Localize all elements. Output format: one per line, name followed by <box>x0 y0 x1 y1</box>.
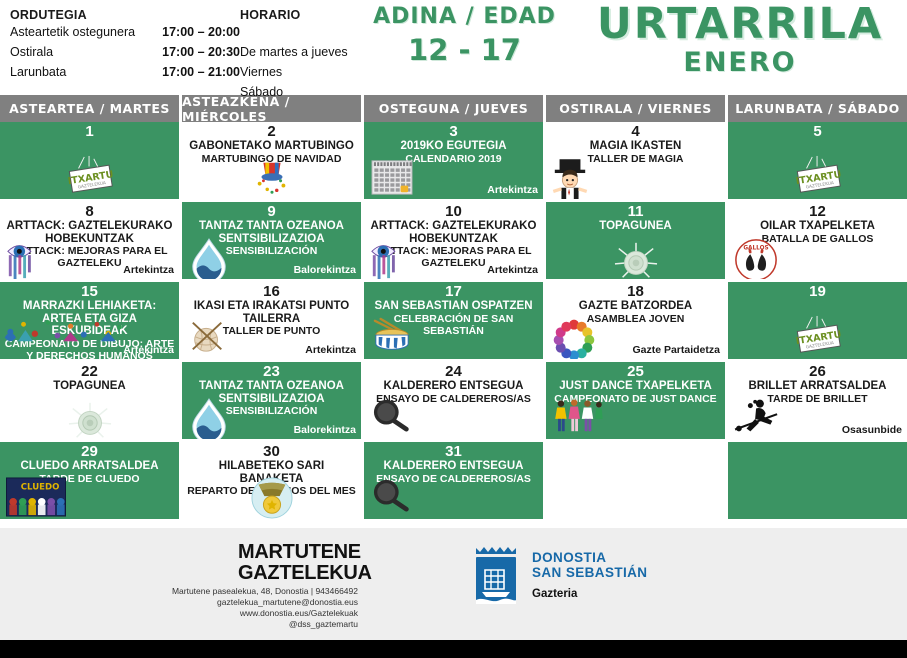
poster-footer: MARTUTENE GAZTELEKUA Martutene pasealeku… <box>0 528 907 640</box>
drum-icon <box>369 317 413 357</box>
event-organizer: Artekintza <box>305 344 356 356</box>
sport-figure-icon <box>733 397 793 437</box>
weekday-header-friday: OSTIRALA / VIERNES <box>546 95 725 122</box>
calendar-day-cell-31[interactable]: 31KALDERERO ENTSEGUAENSAYO DE CALDEREROS… <box>364 442 543 519</box>
day-number: 22 <box>0 362 179 380</box>
schedule-title-eu: ORDUTEGIA <box>10 8 240 22</box>
event-organizer: Osasunbide <box>842 424 902 436</box>
schedule-day-eu-2: Ostirala <box>10 42 53 62</box>
paint-splash-icon <box>0 313 128 353</box>
day-number: 1 <box>0 122 179 140</box>
painted-eye-icon <box>369 237 413 277</box>
schedule-title-es: HORARIO <box>240 8 365 22</box>
day-number: 15 <box>0 282 179 300</box>
calendar-day-cell-11[interactable]: 11TOPAGUNEA <box>546 202 725 279</box>
calendar-day-cell-16[interactable]: 16IKASI ETA IRAKATSI PUNTO TAILERRATALLE… <box>182 282 361 359</box>
weekday-header-tuesday: ASTEARTEA / MARTES <box>0 95 179 122</box>
calendar-day-cell-29[interactable]: 29CLUEDO ARRATSALDEATARDE DE CLUEDOCLUED… <box>0 442 179 519</box>
calendar-day-cell-1[interactable]: 1ITXARTUGAZTELEKUA <box>0 122 179 199</box>
event-title-eu: JUST DANCE TXAPELKETA <box>546 380 725 393</box>
calendar-day-cell-22[interactable]: 22TOPAGUNEA <box>0 362 179 439</box>
virus-sphere-icon <box>609 239 669 279</box>
schedule-row-es-3: Sábado <box>240 82 365 102</box>
event-title-eu: CLUEDO ARRATSALDEA <box>0 460 179 473</box>
itxartu-sign-icon: ITXARTUGAZTELEKUA <box>789 315 849 355</box>
calendar-day-cell-30[interactable]: 30HILABETEKO SARI BANAKETAREPARTO DE PRE… <box>182 442 361 519</box>
day-number: 4 <box>546 122 725 140</box>
magician-icon <box>551 157 595 197</box>
schedule-spanish: HORARIO De martes a jueves Viernes Sábad… <box>240 8 365 102</box>
contact-website[interactable]: www.donostia.eus/Gaztelekuak <box>120 608 358 619</box>
schedule-row-3: Larunbata 17:00 – 21:00 <box>10 62 240 82</box>
day-number: 11 <box>546 202 725 220</box>
painted-eye-icon <box>5 237 49 277</box>
age-range-block: ADINA / EDAD 12 - 17 <box>372 4 557 67</box>
svg-text:CLUEDO: CLUEDO <box>21 482 60 492</box>
day-number: 31 <box>364 442 543 460</box>
calendar-week-row: 29CLUEDO ARRATSALDEATARDE DE CLUEDOCLUED… <box>0 442 907 519</box>
event-title-eu: KALDERERO ENTSEGUA <box>364 380 543 393</box>
month-name-es: ENERO <box>580 48 900 78</box>
knitting-icon <box>187 317 231 357</box>
event-organizer: Artekintza <box>487 184 538 196</box>
event-title-eu: OILAR TXAPELKETA <box>728 220 907 233</box>
poster-header: ORDUTEGIA Asteartetik ostegunera 17:00 –… <box>0 0 907 95</box>
day-number: 30 <box>182 442 361 460</box>
event-organizer: Artekintza <box>123 344 174 356</box>
day-number: 12 <box>728 202 907 220</box>
event-title-eu: BRILLET ARRATSALDEA <box>728 380 907 393</box>
event-organizer: Artekintza <box>487 264 538 276</box>
event-organizer: Balorekintza <box>294 264 356 276</box>
schedule-row-2: Ostirala 17:00 – 20:30 <box>10 42 240 62</box>
calendar-week-row: 22TOPAGUNEA23TANTAZ TANTA OZEANOA SENTSI… <box>0 362 907 439</box>
calendar-week-row: 15MARRAZKI LEHIAKETA: ARTEA ETA GIZA ESK… <box>0 282 907 359</box>
schedule-time-1: 17:00 – 20:00 <box>162 22 240 42</box>
calendar-day-cell-8[interactable]: 8ARTTACK: GAZTELEKURAKO HOBEKUNTZAKARTTA… <box>0 202 179 279</box>
day-number: 5 <box>728 122 907 140</box>
month-title-block: URTARRILA ENERO <box>580 0 900 78</box>
calendar-day-cell-24[interactable]: 24KALDERERO ENTSEGUAENSAYO DE CALDEREROS… <box>364 362 543 439</box>
virus-sphere-icon <box>63 399 123 439</box>
contact-address: Martutene pasealekua, 48, Donostia | 943… <box>120 586 358 597</box>
schedule-time-3: 17:00 – 21:00 <box>162 62 240 82</box>
water-drop-icon: OZEANOA <box>187 397 231 437</box>
calendar-day-cell-5[interactable]: 5ITXARTUGAZTELEKUA <box>728 122 907 199</box>
water-drop-icon: OZEANOA <box>187 237 231 277</box>
age-label: ADINA / EDAD <box>372 4 557 29</box>
day-number: 19 <box>728 282 907 300</box>
schedule-day-eu-3: Larunbata <box>10 62 66 82</box>
calendar-poster: ORDUTEGIA Asteartetik ostegunera 17:00 –… <box>0 0 907 658</box>
schedule-basque: ORDUTEGIA Asteartetik ostegunera 17:00 –… <box>10 8 240 82</box>
calendar-grid: 1ITXARTUGAZTELEKUA2GABONETAKO MARTUBINGO… <box>0 122 907 519</box>
weekday-header-thursday: OSTEGUNA / JUEVES <box>364 95 543 122</box>
calendar-day-cell-2[interactable]: 2GABONETAKO MARTUBINGOMARTUBINGO DE NAVI… <box>182 122 361 199</box>
event-organizer: Artekintza <box>123 264 174 276</box>
event-title-eu: SAN SEBASTIAN OSPATZEN <box>364 300 543 313</box>
donostia-city-logo: DONOSTIA SAN SEBASTIÁN Gazteria <box>470 544 710 604</box>
donostia-shield-icon <box>470 544 522 604</box>
schedule-day-eu-1: Asteartetik ostegunera <box>10 22 135 42</box>
event-title-eu: TOPAGUNEA <box>0 380 179 393</box>
schedule-row-es-0 <box>240 22 365 42</box>
calendar-day-cell-9[interactable]: 9TANTAZ TANTA OZEANOA SENTSIBILIZAZIOASE… <box>182 202 361 279</box>
month-name-eu: URTARRILA <box>580 0 900 48</box>
day-number: 8 <box>0 202 179 220</box>
day-number: 23 <box>182 362 361 380</box>
calendar-day-cell-25[interactable]: 25JUST DANCE TXAPELKETACAMPEONATO DE JUS… <box>546 362 725 439</box>
calendar-day-cell-12[interactable]: 12OILAR TXAPELKETABATALLA DE GALLOSGALLO… <box>728 202 907 279</box>
calendar-empty-cell <box>728 442 907 519</box>
city-name-line1: DONOSTIA <box>532 550 647 565</box>
calendar-day-cell-10[interactable]: 10ARTTACK: GAZTELEKURAKO HOBEKUNTZAKARTT… <box>364 202 543 279</box>
day-number: 26 <box>728 362 907 380</box>
frying-pan-icon <box>369 477 413 517</box>
day-number: 24 <box>364 362 543 380</box>
schedule-row-1: Asteartetik ostegunera 17:00 – 20:00 <box>10 22 240 42</box>
weekday-header-row: ASTEARTEA / MARTES ASTEAZKENA / MIÉRCOLE… <box>0 95 907 122</box>
event-organizer: Balorekintza <box>294 424 356 436</box>
calendar-day-cell-15[interactable]: 15MARRAZKI LEHIAKETA: ARTEA ETA GIZA ESK… <box>0 282 179 359</box>
calendar-icon <box>369 157 413 197</box>
age-value: 12 - 17 <box>372 33 557 67</box>
confetti-party-icon <box>250 157 294 197</box>
calendar-day-cell-19[interactable]: 19ITXARTUGAZTELEKUA <box>728 282 907 359</box>
weekday-header-saturday: LARUNBATA / SÁBADO <box>728 95 907 122</box>
itxartu-sign-icon: ITXARTUGAZTELEKUA <box>789 155 849 195</box>
contact-email[interactable]: gaztelekua_martutene@donostia.eus <box>120 597 358 608</box>
day-number: 10 <box>364 202 543 220</box>
schedule-row-es-2: Viernes <box>240 62 365 82</box>
city-name-line2: SAN SEBASTIÁN <box>532 565 647 580</box>
rooster-battle-icon: GALLOS <box>733 237 777 277</box>
event-title-eu: GABONETAKO MARTUBINGO <box>182 140 361 153</box>
event-title-eu: KALDERERO ENTSEGUA <box>364 460 543 473</box>
medal-icon <box>251 477 295 517</box>
schedule-day-es-3: Sábado <box>240 82 283 102</box>
event-title-eu: 2019KO EGUTEGIA <box>364 140 543 153</box>
venue-name-line1: MARTUTENE <box>238 542 358 563</box>
day-number: 2 <box>182 122 361 140</box>
schedule-day-es-1: De martes a jueves <box>240 42 348 62</box>
event-organizer: Gazte Partaidetza <box>632 344 720 356</box>
calendar-day-cell-26[interactable]: 26BRILLET ARRATSALDEATARDE DE BRILLETOsa… <box>728 362 907 439</box>
donostia-logo-text: DONOSTIA SAN SEBASTIÁN Gazteria <box>532 544 647 601</box>
venue-brand: MARTUTENE GAZTELEKUA <box>238 542 358 584</box>
contact-social[interactable]: @dss_gaztemartu <box>120 619 358 630</box>
venue-contact: Martutene pasealekua, 48, Donostia | 943… <box>120 586 358 630</box>
calendar-day-cell-23[interactable]: 23TANTAZ TANTA OZEANOA SENTSIBILIZAZIOAS… <box>182 362 361 439</box>
svg-text:GALLOS: GALLOS <box>743 245 768 251</box>
event-title-eu: GAZTE BATZORDEA <box>546 300 725 313</box>
schedule-day-es-2: Viernes <box>240 62 282 82</box>
event-title-eu: MAGIA IKASTEN <box>546 140 725 153</box>
bottom-black-bar <box>0 640 907 658</box>
calendar-day-cell-18[interactable]: 18GAZTE BATZORDEAASAMBLEA JOVENGazte Par… <box>546 282 725 359</box>
cluedo-box-icon: CLUEDO <box>5 477 65 517</box>
calendar-empty-cell <box>546 442 725 519</box>
day-number: 29 <box>0 442 179 460</box>
day-number: 3 <box>364 122 543 140</box>
day-number: 17 <box>364 282 543 300</box>
calendar-day-cell-3[interactable]: 32019KO EGUTEGIACALENDARIO 2019Artekintz… <box>364 122 543 199</box>
itxartu-sign-icon: ITXARTUGAZTELEKUA <box>61 155 121 195</box>
calendar-week-row: 8ARTTACK: GAZTELEKURAKO HOBEKUNTZAKARTTA… <box>0 202 907 279</box>
dancers-icon <box>551 397 611 437</box>
calendar-week-row: 1ITXARTUGAZTELEKUA2GABONETAKO MARTUBINGO… <box>0 122 907 199</box>
calendar-day-cell-17[interactable]: 17SAN SEBASTIAN OSPATZENCELEBRACIÓN DE S… <box>364 282 543 359</box>
day-number: 16 <box>182 282 361 300</box>
schedule-time-2: 17:00 – 20:30 <box>162 42 240 62</box>
day-number: 9 <box>182 202 361 220</box>
venue-name-line2: GAZTELEKUA <box>238 563 358 584</box>
city-department: Gazteria <box>532 587 647 601</box>
calendar-day-cell-4[interactable]: 4MAGIA IKASTENTALLER DE MAGIA <box>546 122 725 199</box>
day-number: 18 <box>546 282 725 300</box>
schedule-row-es-1: De martes a jueves <box>240 42 365 62</box>
event-title-eu: TOPAGUNEA <box>546 220 725 233</box>
frying-pan-icon <box>369 397 413 437</box>
people-circle-icon <box>551 317 595 357</box>
day-number: 25 <box>546 362 725 380</box>
